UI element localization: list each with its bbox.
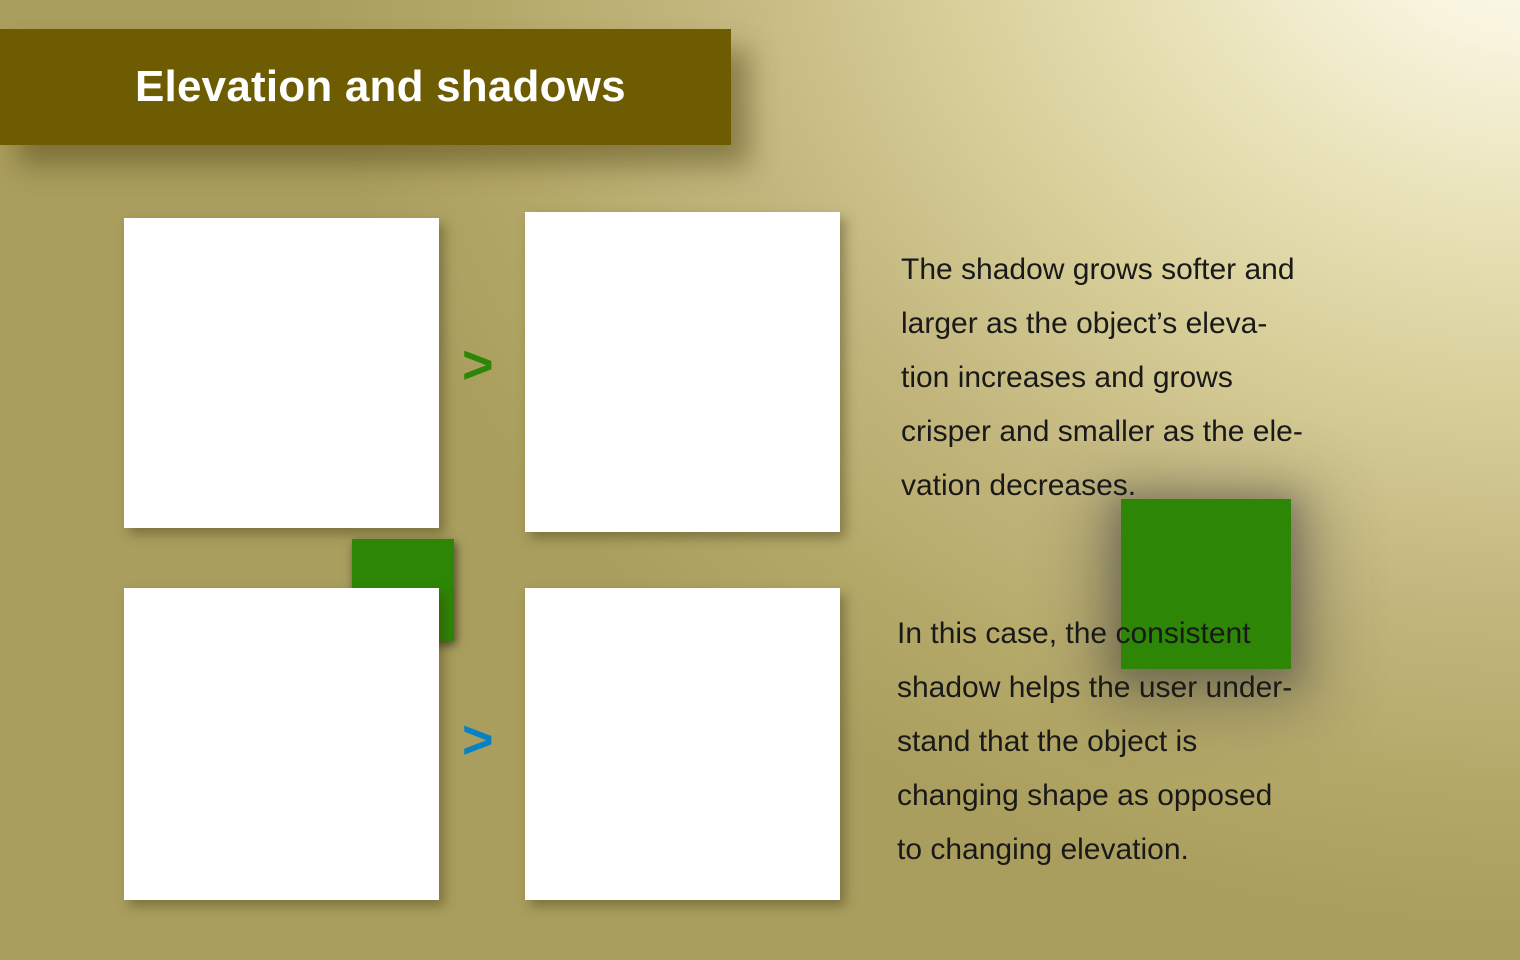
panel-elevation-high	[525, 212, 840, 532]
panel-shape-large	[525, 588, 840, 900]
caption-elevation: The shadow grows softer and larger as th…	[901, 243, 1431, 513]
caption-shape-change: In this case, the consistent shadow help…	[897, 607, 1427, 877]
page-title: Elevation and shadows	[135, 65, 626, 109]
panel-shape-small	[124, 588, 439, 900]
slide-canvas: Elevation and shadows > The shadow grows…	[0, 0, 1520, 960]
panel-elevation-low	[124, 218, 439, 528]
title-bar: Elevation and shadows	[0, 29, 731, 145]
chevron-right-icon-blue: >	[462, 713, 494, 767]
chevron-right-icon-green: >	[462, 338, 494, 392]
